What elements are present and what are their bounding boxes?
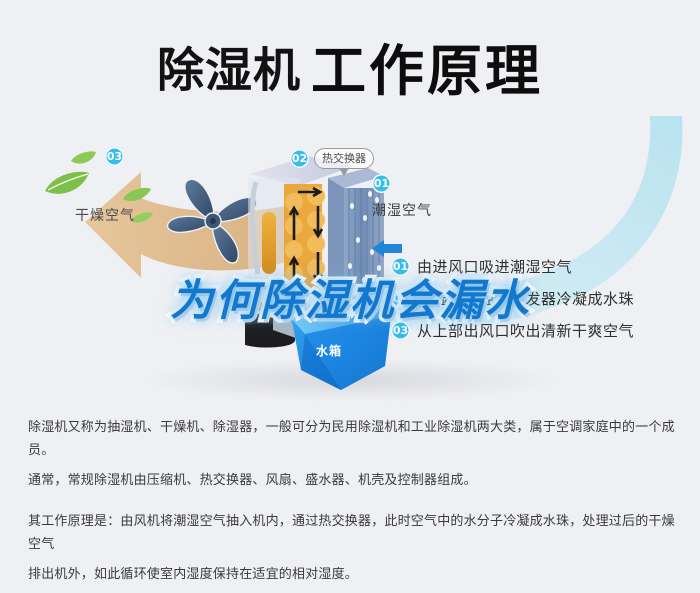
humid-air-label: 潮湿空气 [372, 200, 432, 220]
badge-02: 02 [290, 149, 309, 168]
page-title-part1: 除湿机 [157, 44, 301, 99]
paragraph-1-line-1: 除湿机又称为抽湿机、干燥机、除湿器，一般可分为民用除湿机和工业除湿机两大类，属于… [28, 416, 676, 462]
heat-exchanger-callout: 热交换器 [314, 148, 374, 169]
diagram-label-02: 02 热交换器 [290, 148, 374, 169]
page-root: 除湿机工作原理 [0, 0, 700, 566]
diagram-label-01: 01 [372, 172, 391, 193]
dry-air-label: 干燥空气 [75, 205, 135, 225]
paragraph-2-line-1: 其工作原理是：由风机将潮湿空气抽入机内，通过热交换器，此时空气中的水分子冷凝成水… [28, 510, 676, 556]
diagram-label-03: 03 [105, 145, 124, 166]
paragraph-1-line-2: 通常，常规除湿机由压缩机、热交换器、风扇、盛水器、机壳及控制器组成。 [28, 469, 676, 492]
body-copy: 除湿机又称为抽湿机、干燥机、除湿器，一般可分为民用除湿机和工业除湿机两大类，属于… [28, 416, 676, 593]
water-tank-label: 水箱 [316, 342, 342, 359]
paragraph-2-line-2: 排出机外，如此循环使室内湿度保持在适宜的相对湿度。 [28, 563, 676, 586]
badge-01: 01 [372, 174, 391, 193]
paragraph-gap [28, 499, 676, 510]
overlay-headline: 为何除湿机会漏水 [0, 266, 700, 328]
page-title: 除湿机工作原理 [0, 26, 700, 106]
badge-03: 03 [105, 147, 124, 166]
page-title-part2: 工作原理 [311, 39, 543, 103]
